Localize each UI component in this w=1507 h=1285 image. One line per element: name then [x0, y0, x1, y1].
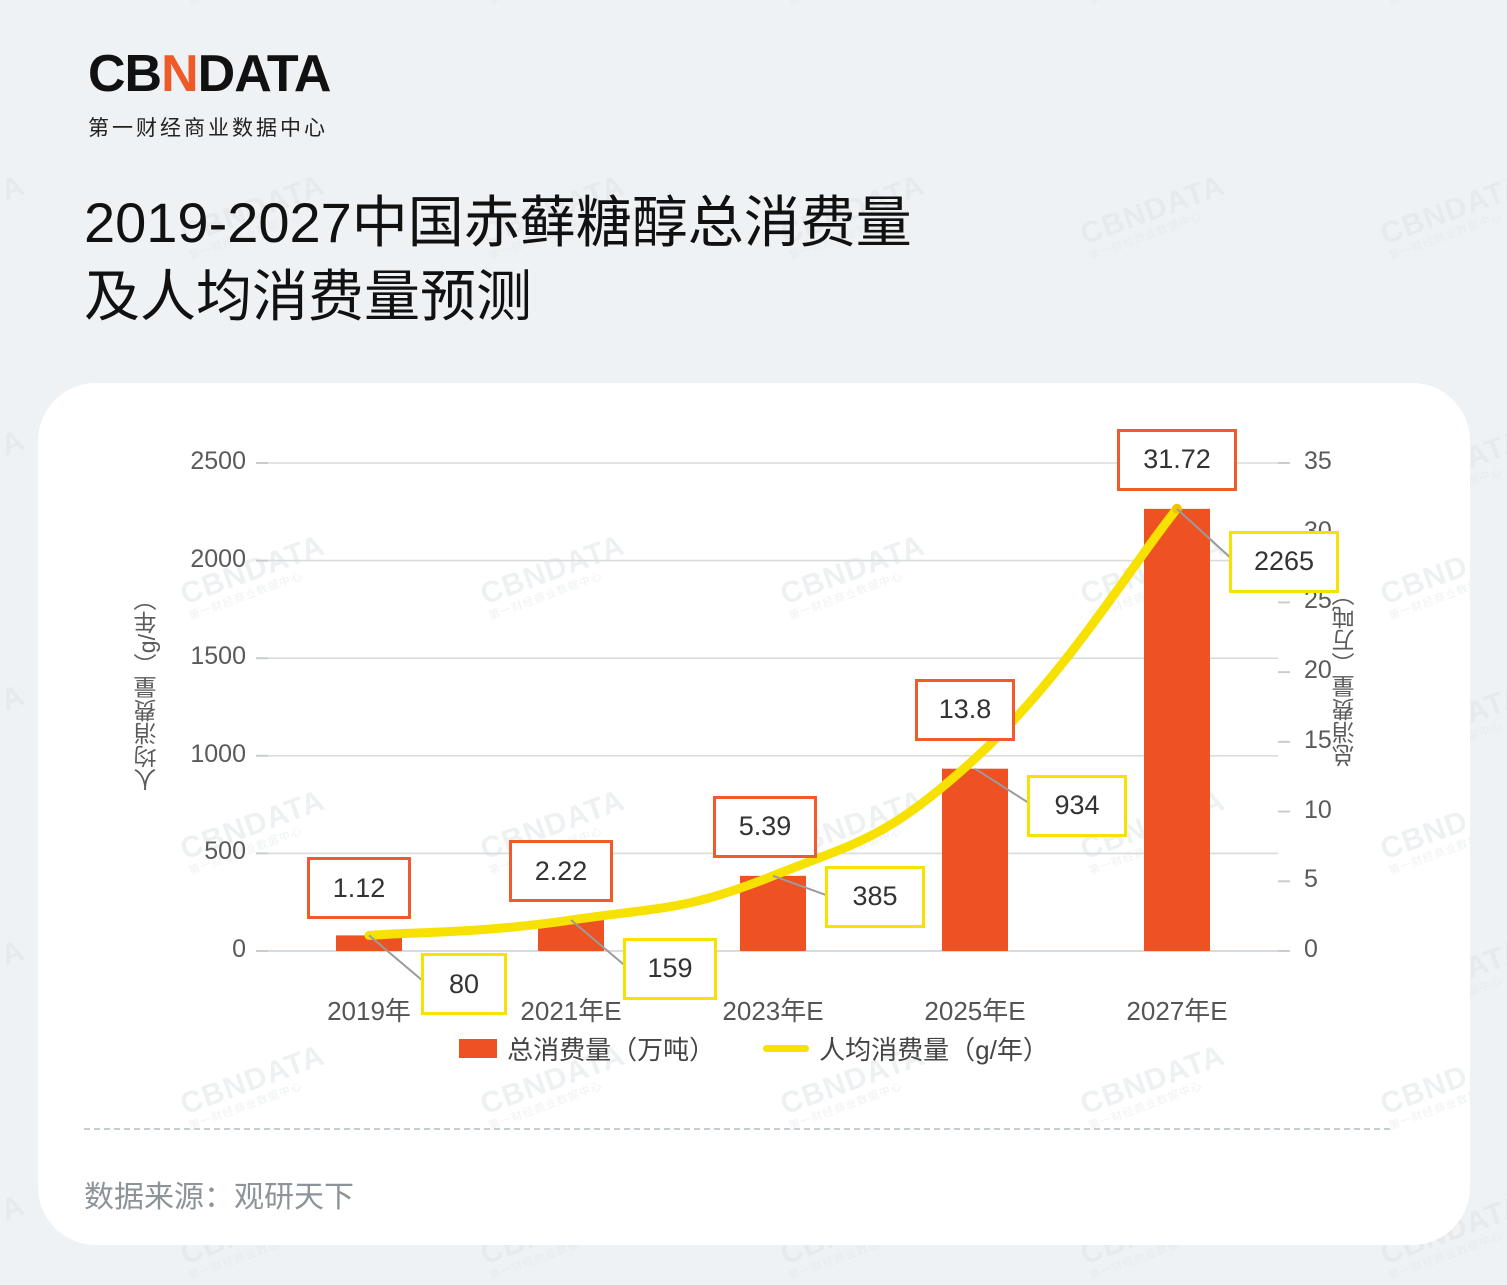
chart-legend: 总消费量（万吨）人均消费量（g/年） — [38, 1030, 1470, 1067]
watermark: CBNDATA第一财经商业数据中心 — [777, 0, 934, 10]
legend-label: 人均消费量（g/年） — [819, 1030, 1049, 1067]
cbndata-logo: CBNDATA 第一财经商业数据中心 — [88, 48, 330, 142]
y-axis-right-tick-label: 5 — [1304, 865, 1364, 894]
logo-wordmark-pre: CB — [88, 48, 161, 100]
bar-value-callout: 934 — [1027, 775, 1127, 837]
bar — [1144, 509, 1210, 951]
line-series — [369, 504, 1182, 936]
chart-card: CBNDATA第一财经商业数据中心CBNDATA第一财经商业数据中心CBNDAT… — [38, 383, 1470, 1245]
footer-divider — [84, 1128, 1390, 1130]
bar-value-callout: 80 — [421, 953, 507, 1015]
line-value-callout: 5.39 — [713, 796, 817, 858]
legend-bar-swatch-icon — [459, 1039, 497, 1058]
line-value-callout: 1.12 — [307, 857, 411, 919]
y-axis-right-tick-label: 35 — [1304, 447, 1364, 476]
chart-plot-area: 人均消费量（g/年） 总消费量（万吨） 25002000150010005000… — [38, 383, 1470, 1245]
line-value-callout: 31.72 — [1117, 429, 1237, 491]
y-axis-left-tick-label: 1000 — [156, 740, 246, 769]
watermark: CBNDATA第一财经商业数据中心 — [1377, 0, 1507, 10]
x-axis-category-label: 2027年E — [1087, 991, 1267, 1028]
logo-tagline: 第一财经商业数据中心 — [88, 112, 330, 142]
watermark: CBNDATA第一财经商业数据中心 — [477, 0, 634, 10]
y-axis-right-tick-label: 20 — [1304, 656, 1364, 685]
line-path — [369, 509, 1177, 936]
y-axis-right-tick-label: 10 — [1304, 796, 1364, 825]
watermark: CBNDATA第一财经商业数据中心 — [177, 0, 334, 10]
bar-series — [336, 509, 1210, 951]
watermark: CBNDATA第一财经商业数据中心 — [0, 1191, 34, 1285]
line-value-callout: 13.8 — [915, 679, 1015, 741]
legend-label: 总消费量（万吨） — [507, 1030, 715, 1067]
watermark: CBNDATA第一财经商业数据中心 — [0, 936, 34, 1030]
line-value-callout: 2.22 — [509, 840, 613, 902]
watermark: CBNDATA第一财经商业数据中心 — [0, 681, 34, 775]
bar-value-callout: 385 — [825, 866, 925, 928]
y-axis-left-tick-label: 1500 — [156, 642, 246, 671]
watermark: CBNDATA第一财经商业数据中心 — [0, 171, 34, 265]
legend-item[interactable]: 人均消费量（g/年） — [763, 1030, 1049, 1067]
watermark: CBNDATA第一财经商业数据中心 — [1077, 0, 1234, 10]
logo-wordmark-accent: N — [161, 48, 198, 100]
y-axis-right-tick-label: 0 — [1304, 935, 1364, 964]
y-axis-left-tick-label: 2000 — [156, 545, 246, 574]
watermark: CBNDATA第一财经商业数据中心 — [1377, 171, 1507, 265]
y-axis-right-tick-label: 15 — [1304, 726, 1364, 755]
watermark: CBNDATA第一财经商业数据中心 — [0, 0, 34, 10]
bar — [942, 769, 1008, 951]
bar-value-callout: 159 — [623, 938, 717, 1000]
watermark: CBNDATA第一财经商业数据中心 — [1077, 171, 1234, 265]
legend-line-swatch-icon — [763, 1045, 809, 1052]
bar-value-callout: 2265 — [1229, 531, 1339, 593]
y-axis-left-tick-label: 0 — [156, 935, 246, 964]
x-axis-category-label: 2025年E — [885, 991, 1065, 1028]
logo-wordmark: CBNDATA — [88, 48, 330, 100]
watermark: CBNDATA第一财经商业数据中心 — [0, 426, 34, 520]
y-axis-left-tick-label: 500 — [156, 837, 246, 866]
y-axis-left-tick-label: 2500 — [156, 447, 246, 476]
logo-wordmark-post: DATA — [198, 48, 331, 100]
legend-item[interactable]: 总消费量（万吨） — [459, 1030, 715, 1067]
page-title: 2019-2027中国赤藓糖醇总消费量 及人均消费量预测 — [84, 186, 912, 335]
source-note: 数据来源：观研天下 — [84, 1172, 354, 1216]
